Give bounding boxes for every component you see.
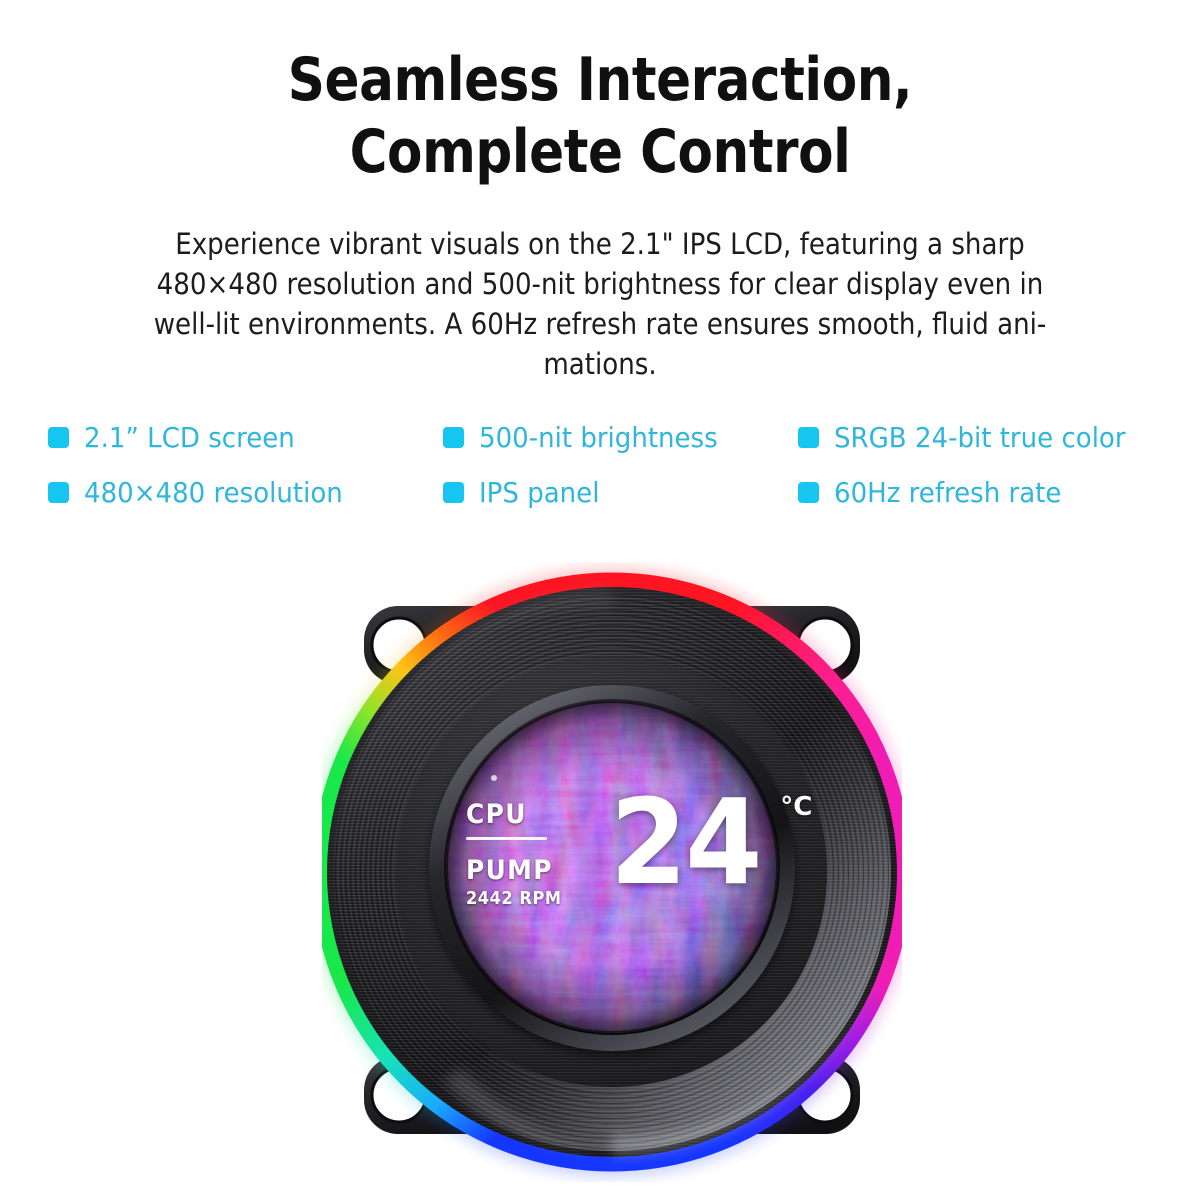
feature-item-ips-panel: IPS panel	[443, 478, 798, 508]
description-line-3: well-lit environments. A 60Hz refresh ra…	[146, 304, 1055, 344]
description-line-4: mations.	[146, 344, 1055, 384]
description-line-1: Experience vibrant visuals on the 2.1" I…	[146, 224, 1055, 264]
feature-list: 2.1” LCD screen 500-nit brightness SRGB …	[48, 410, 1158, 520]
cooler-illustration	[322, 562, 902, 1182]
page-title-line-1: Seamless Interaction,	[84, 44, 1116, 116]
feature-item-refresh-rate: 60Hz refresh rate	[798, 478, 1158, 508]
feature-item-lcd-screen: 2.1” LCD screen	[48, 423, 443, 453]
feature-label: 480×480 resolution	[84, 478, 343, 508]
feature-item-resolution: 480×480 resolution	[48, 478, 443, 508]
page-title-line-2: Complete Control	[84, 116, 1116, 188]
bullet-square-icon	[798, 482, 819, 503]
bullet-square-icon	[443, 482, 464, 503]
feature-item-brightness: 500-nit brightness	[443, 423, 798, 453]
product-feature-page: Seamless Interaction, Complete Control E…	[0, 0, 1200, 1200]
feature-label: 500-nit brightness	[479, 423, 718, 453]
description-line-2: 480×480 resolution and 500-nit brightnes…	[146, 264, 1055, 304]
product-image-cpu-cooler: CPU PUMP 2442 RPM 24 °C	[322, 562, 902, 1182]
feature-label: 2.1” LCD screen	[84, 423, 295, 453]
feature-item-true-color: SRGB 24-bit true color	[798, 423, 1158, 453]
bullet-square-icon	[48, 427, 69, 448]
bullet-square-icon	[443, 427, 464, 448]
feature-label: SRGB 24-bit true color	[834, 423, 1126, 453]
bullet-square-icon	[798, 427, 819, 448]
description-paragraph: Experience vibrant visuals on the 2.1" I…	[146, 224, 1055, 384]
feature-label: 60Hz refresh rate	[834, 478, 1061, 508]
bullet-square-icon	[48, 482, 69, 503]
feature-label: IPS panel	[479, 478, 599, 508]
page-title: Seamless Interaction, Complete Control	[84, 44, 1116, 188]
sensor-dot-icon	[491, 775, 497, 781]
